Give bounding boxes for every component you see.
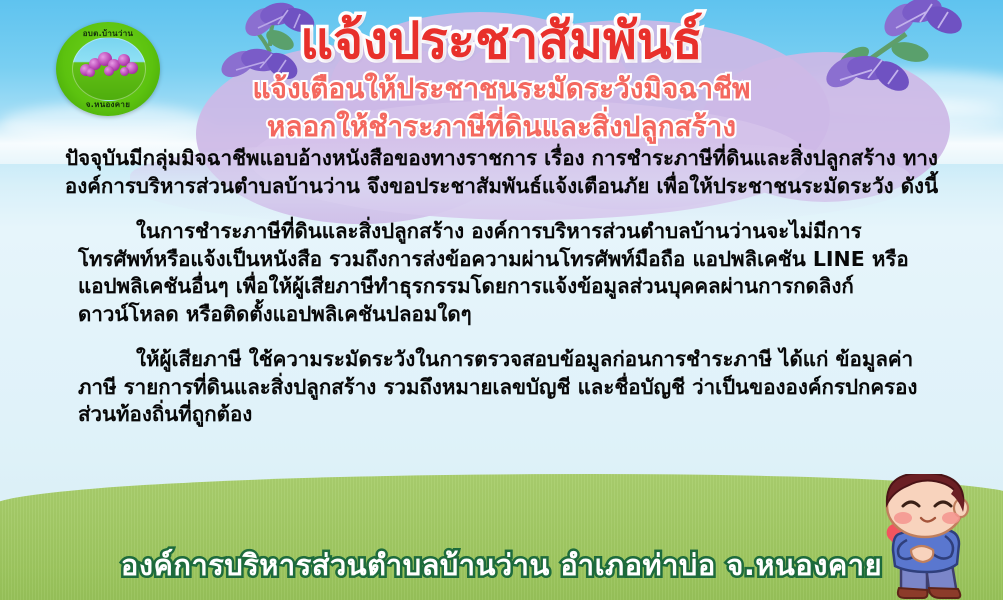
paragraph-intro: ปัจจุบันมีกลุ่มมิจฉาชีพแอบอ้างหนังสือของ… <box>26 145 977 200</box>
heading-block: แจ้งประชาสัมพันธ์ แจ้งเตือนให้ประชาชนระม… <box>0 14 1003 145</box>
subtitle-line-2: หลอกให้ชำระภาษีที่ดินและสิ่งปลูกสร้าง <box>0 109 1003 145</box>
announcement-poster: อบต.บ้านว่าน จ.หนองคาย <box>0 0 1003 600</box>
subtitle-line-1: แจ้งเตือนให้ประชาชนระมัดระวังมิจฉาชีพ <box>0 71 1003 107</box>
paragraph-advice: ให้ผู้เสียภาษี ใช้ความระมัดระวังในการตรว… <box>26 346 977 429</box>
page-title: แจ้งประชาสัมพันธ์ <box>0 14 1003 69</box>
footer-organization: องค์การบริหารส่วนตำบลบ้านว่าน อำเภอท่าบ่… <box>0 542 1003 588</box>
paragraph-warning: ในการชำระภาษีที่ดินและสิ่งปลูกสร้าง องค์… <box>26 218 977 328</box>
body-content: ปัจจุบันมีกลุ่มมิจฉาชีพแอบอ้างหนังสือของ… <box>26 145 977 429</box>
